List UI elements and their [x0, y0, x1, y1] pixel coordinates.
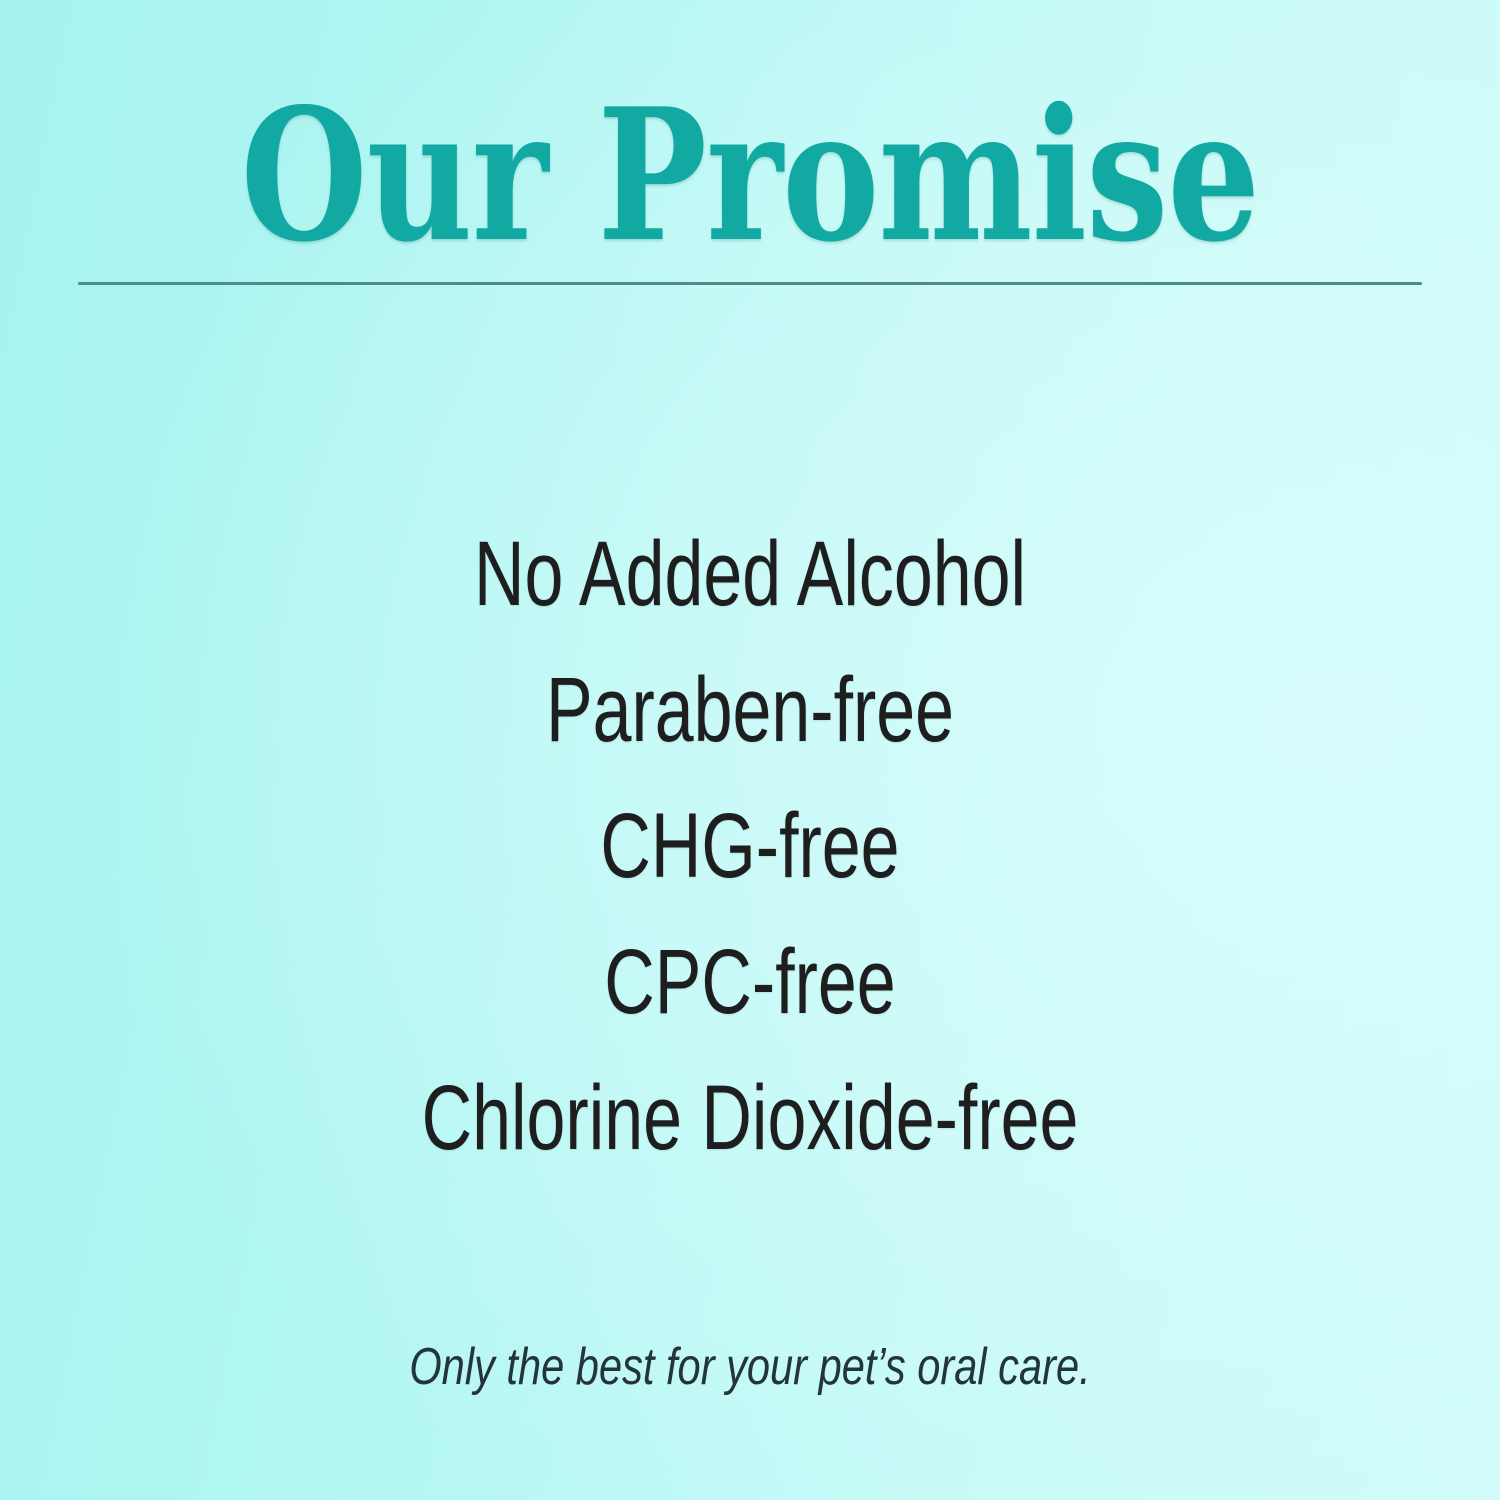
list-item: Paraben-free — [180, 642, 1320, 778]
list-item: CHG-free — [180, 778, 1320, 914]
our-promise-card: Our Promise No Added Alcohol Paraben-fre… — [0, 0, 1500, 1500]
list-item: Chlorine Dioxide-free — [180, 1050, 1320, 1186]
title-divider — [78, 282, 1422, 285]
claim-list: No Added Alcohol Paraben-free CHG-free C… — [0, 506, 1500, 1186]
list-item: No Added Alcohol — [180, 506, 1320, 642]
footer-tagline: Only the best for your pet’s oral care. — [150, 1335, 1350, 1399]
list-item: CPC-free — [180, 914, 1320, 1050]
header-block: Our Promise — [0, 0, 1500, 300]
page-title: Our Promise — [150, 84, 1350, 266]
